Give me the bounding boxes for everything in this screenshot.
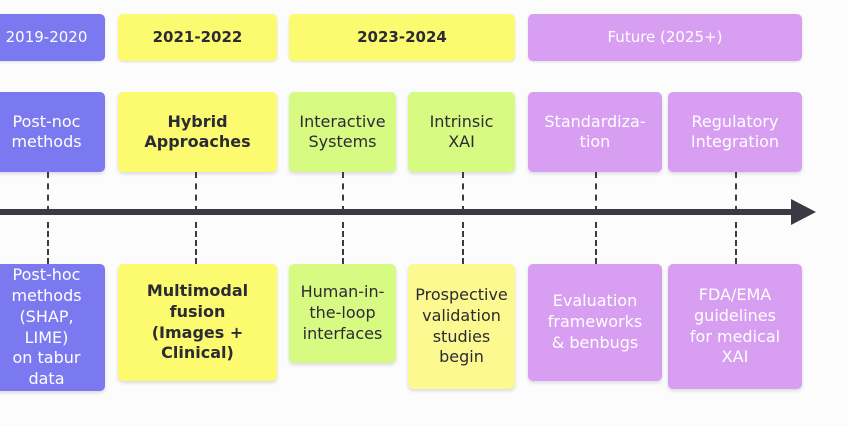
milestone-label: Multimodal fusion (Images + Clinical) [147,281,248,364]
period-header-label: 2023-2024 [357,29,447,46]
milestone-label: Hybrid Approaches [144,112,250,153]
period-header-2021-2022: 2021-2022 [118,14,277,61]
milestone-top-interactive-systems: Interactive Systems [289,92,396,172]
milestone-bottom-post-hoc-shap-lime: Post-hoc methods (SHAP, LIME) on tabur d… [0,264,105,391]
connector-bottom-4 [462,222,464,264]
milestone-label: Intrinsic XAI [430,112,494,153]
timeline-diagram: 2019-2020 2021-2022 2023-2024 Future (20… [0,0,848,426]
period-header-2019-2020: 2019-2020 [0,14,105,61]
milestone-top-standardization: Standardiza- tion [528,92,662,172]
milestone-label: Standardiza- tion [544,112,645,153]
connector-bottom-1 [47,222,49,264]
milestone-top-regulatory-integration: Regulatory Integration [668,92,802,172]
milestone-label: Post-hoc methods (SHAP, LIME) on tabur d… [0,265,100,390]
milestone-bottom-evaluation-frameworks: Evaluation frameworks & benbugs [528,264,662,381]
period-header-label: Future (2025+) [608,29,723,46]
milestone-bottom-human-in-the-loop: Human-in- the-loop interfaces [289,264,396,363]
milestone-label: Evaluation frameworks & benbugs [548,291,643,353]
period-header-label: 2021-2022 [153,29,243,46]
milestone-top-post-hoc-methods: Post-noc methods [0,92,105,172]
connector-bottom-2 [195,222,197,264]
milestone-bottom-multimodal-fusion: Multimodal fusion (Images + Clinical) [118,264,277,381]
connector-bottom-3 [342,222,344,264]
period-header-future: Future (2025+) [528,14,802,61]
milestone-label: Human-in- the-loop interfaces [301,282,385,344]
milestone-label: Regulatory Integration [691,112,779,153]
milestone-label: Interactive Systems [299,112,385,153]
period-header-label: 2019-2020 [6,29,88,46]
milestone-top-hybrid-approaches: Hybrid Approaches [118,92,277,172]
period-header-2023-2024: 2023-2024 [289,14,515,61]
milestone-label: Prospective validation studies begin [415,285,508,368]
milestone-label: FDA/EMA guidelines for medical XAI [690,285,780,368]
milestone-bottom-prospective-validation: Prospective validation studies begin [408,264,515,389]
connector-bottom-6 [735,222,737,264]
connector-bottom-5 [595,222,597,264]
timeline-arrowhead-icon [791,199,816,225]
milestone-label: Post-noc methods [11,112,81,153]
milestone-bottom-fda-ema-guidelines: FDA/EMA guidelines for medical XAI [668,264,802,389]
timeline-arrow [0,195,848,231]
milestone-top-intrinsic-xai: Intrinsic XAI [408,92,515,172]
